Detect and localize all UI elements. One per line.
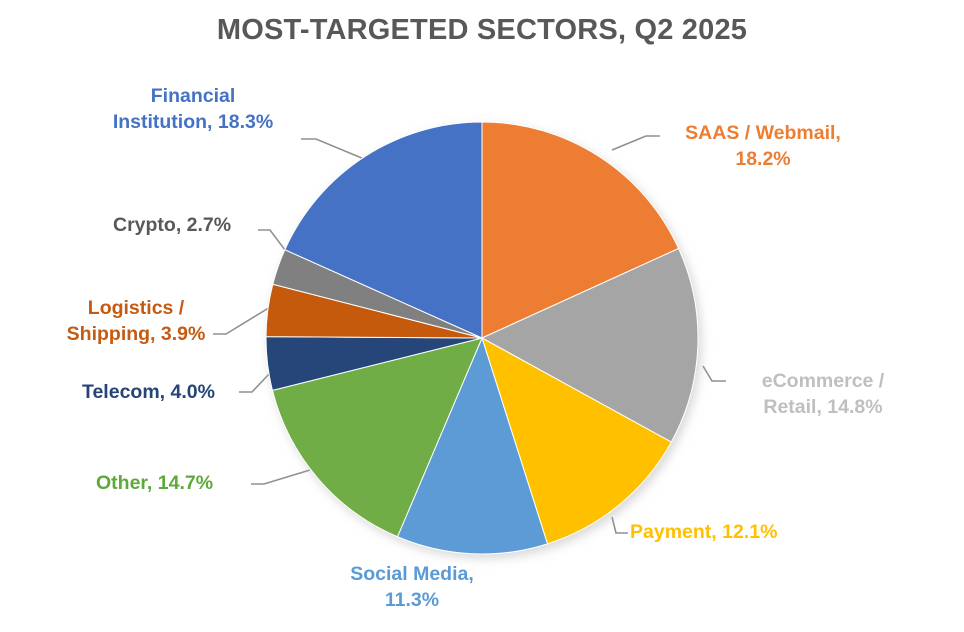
- pie-slices-group: [266, 122, 698, 554]
- slice-label-crypto: Crypto, 2.7%: [113, 212, 263, 238]
- leader-line-ecommerce: [703, 366, 726, 381]
- leader-line-saas: [612, 136, 660, 150]
- leader-line-telecom: [239, 372, 271, 392]
- leader-line-payment: [612, 517, 628, 533]
- slice-label-logistics-shipping: Logistics / Shipping, 3.9%: [48, 295, 224, 347]
- slice-label-ecommerce-retail: eCommerce / Retail, 14.8%: [728, 368, 918, 420]
- slice-label-other: Other, 14.7%: [96, 470, 256, 496]
- slice-label-financial-institution: Financial Institution, 18.3%: [78, 83, 308, 135]
- leader-line-other: [251, 470, 310, 484]
- slice-label-payment: Payment, 12.1%: [630, 519, 860, 545]
- slice-label-saas-webmail: SAAS / Webmail, 18.2%: [663, 120, 863, 172]
- pie-chart-figure: MOST-TARGETED SECTORS, Q2 2025 Financial…: [0, 0, 964, 632]
- slice-label-social-media: Social Media, 11.3%: [322, 561, 502, 613]
- slice-label-telecom: Telecom, 4.0%: [82, 379, 242, 405]
